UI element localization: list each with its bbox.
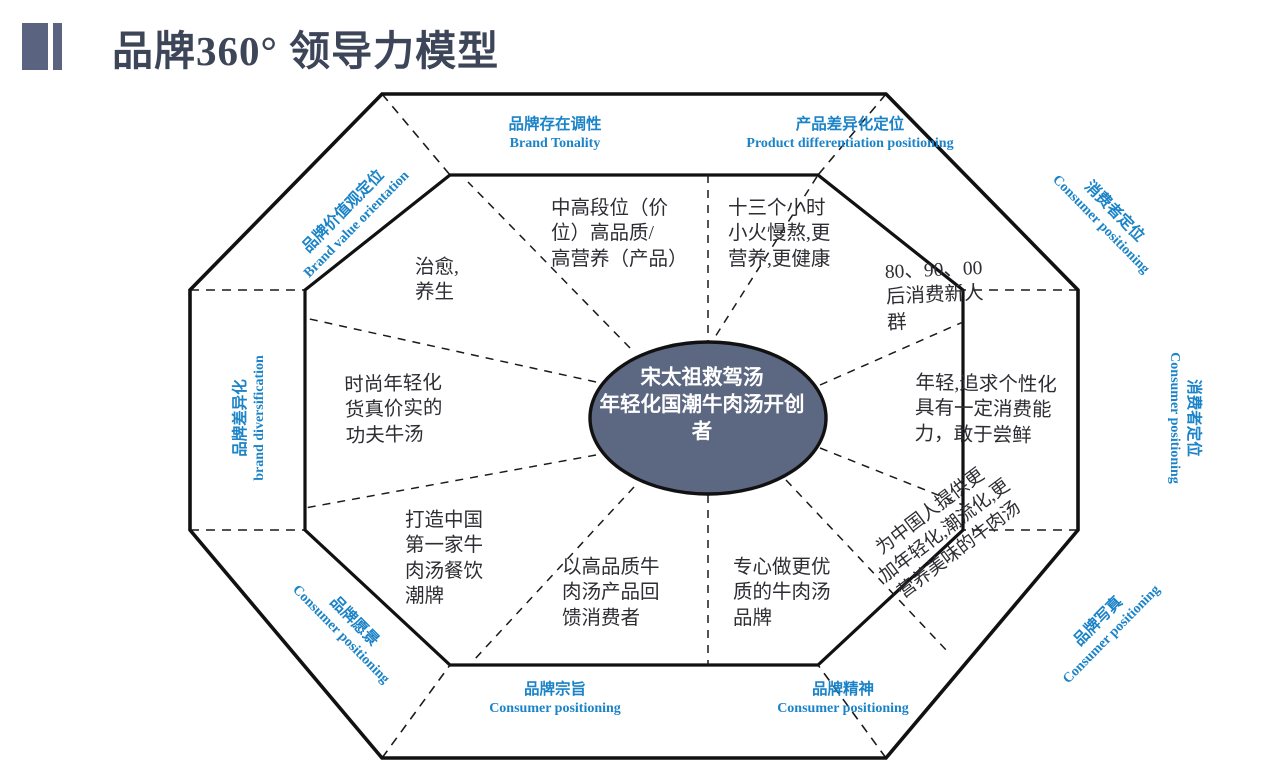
ring-label-top-left: 品牌存在调性 Brand Tonality [460, 116, 650, 152]
ring-label-bottom-right: 品牌精神 Consumer positioning [748, 681, 938, 717]
segment-text-bottom-left: 以高品质牛 肉汤产品回 馈消费者 [562, 555, 660, 631]
segment-text-upper-left-diagonal: 治愈, 养生 [415, 255, 459, 306]
inner-spoke-w-lower [305, 455, 596, 508]
ring-label-right-side: 消费者定位 Consumer positioning [1166, 318, 1202, 518]
segment-text-top-right: 十三个小时 小火慢熬,更 营养,更健康 [728, 196, 830, 272]
ring-label-cn: 品牌宗旨 [460, 681, 650, 700]
ring-label-en: brand diversification [251, 318, 268, 518]
ring-label-en: Product differentiation positioning [715, 135, 985, 152]
ring-label-top-right: 产品差异化定位 Product differentiation position… [715, 116, 985, 152]
segment-text-top-left: 中高段位（价 位）高品质/ 高营养（产品） [551, 196, 688, 272]
ring-label-cn: 品牌差异化 [232, 318, 251, 518]
center-ellipse-label: 宋太祖救驾汤 年轻化国潮牛肉汤开创者 [592, 365, 812, 446]
ring-label-left-side: 品牌差异化 brand diversification [232, 318, 268, 518]
ring-label-bottom-left: 品牌宗旨 Consumer positioning [460, 681, 650, 717]
ring-label-en: Consumer positioning [748, 700, 938, 717]
segment-text-left: 时尚年轻化 货真价实的 功夫牛汤 [344, 371, 443, 450]
brand-360-model-diagram: 品牌存在调性 Brand Tonality 产品差异化定位 Product di… [0, 0, 1268, 777]
segment-text-upper-right-diagonal: 80、90、00 后消费新人 群 [884, 256, 985, 336]
segment-text-bottom-right: 专心做更优 质的牛肉汤 品牌 [733, 555, 831, 631]
segment-text-right: 年轻,追求个性化 具有一定消费能 力，敢于尝鲜 [914, 371, 1057, 449]
ring-label-cn: 品牌存在调性 [460, 116, 650, 135]
ring-label-en: Consumer positioning [1166, 318, 1183, 518]
segment-text-lower-left-diagonal: 打造中国 第一家牛 肉汤餐饮 潮牌 [405, 508, 483, 609]
ring-label-en: Consumer positioning [460, 700, 650, 717]
ring-label-en: Brand Tonality [460, 135, 650, 152]
ring-label-cn: 产品差异化定位 [715, 116, 985, 135]
ring-label-cn: 品牌精神 [748, 681, 938, 700]
ring-label-cn: 消费者定位 [1183, 318, 1202, 518]
